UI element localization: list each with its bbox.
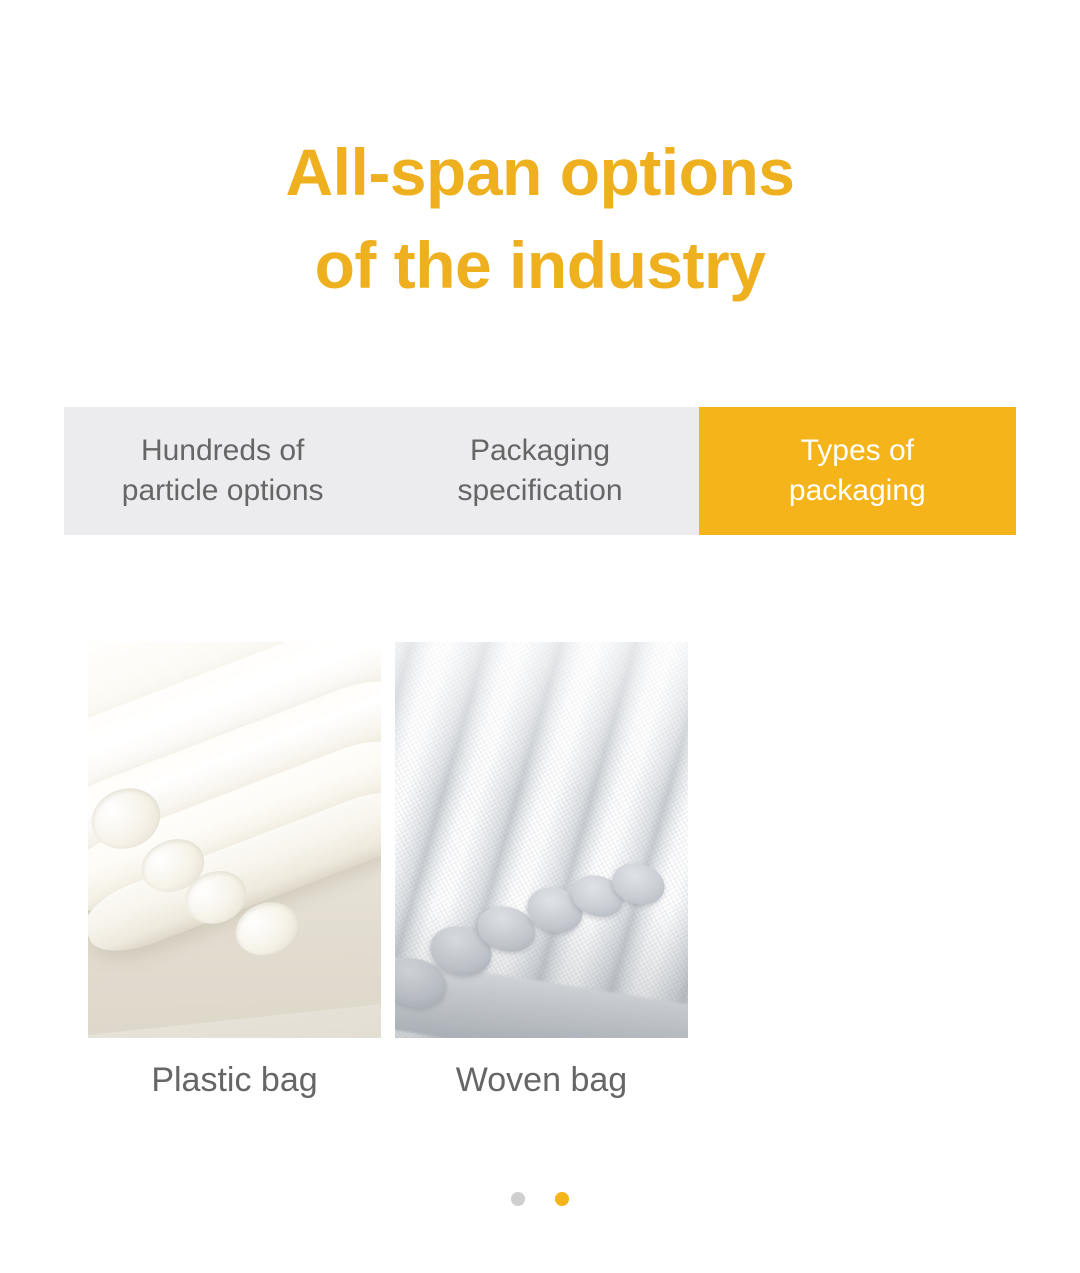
pagination-dot-2[interactable] xyxy=(555,1192,569,1206)
tab-bar: Hundreds of particle options Packaging s… xyxy=(64,407,1016,535)
carousel-pagination xyxy=(0,1192,1080,1206)
tab-label-line-2: specification xyxy=(457,471,622,511)
tab-label-line-2: particle options xyxy=(122,471,324,511)
woven-bag-image xyxy=(395,642,688,1038)
tab-label-line-1: Types of xyxy=(801,431,914,471)
tab-hundreds-of-particle-options[interactable]: Hundreds of particle options xyxy=(64,407,381,535)
promo-panel: All-span options of the industry Hundred… xyxy=(0,0,1080,1273)
pagination-dot-1[interactable] xyxy=(511,1192,525,1206)
plastic-bag-image xyxy=(88,642,381,1038)
gallery-item-caption: Woven bag xyxy=(395,1058,688,1102)
page-title-line-1: All-span options xyxy=(0,126,1080,219)
tab-label-line-1: Hundreds of xyxy=(141,431,304,471)
product-gallery: Plastic bag Woven bag xyxy=(88,642,688,1102)
tab-packaging-specification[interactable]: Packaging specification xyxy=(381,407,698,535)
gallery-item-plastic-bag[interactable]: Plastic bag xyxy=(88,642,381,1102)
tab-label-line-2: packaging xyxy=(789,471,926,511)
woven-bag-shading xyxy=(395,642,688,1038)
gallery-item-caption: Plastic bag xyxy=(88,1058,381,1102)
tab-label-line-1: Packaging xyxy=(470,431,610,471)
gallery-item-woven-bag[interactable]: Woven bag xyxy=(395,642,688,1102)
tab-types-of-packaging[interactable]: Types of packaging xyxy=(699,407,1016,535)
page-title-line-2: of the industry xyxy=(0,219,1080,312)
page-title: All-span options of the industry xyxy=(0,126,1080,312)
